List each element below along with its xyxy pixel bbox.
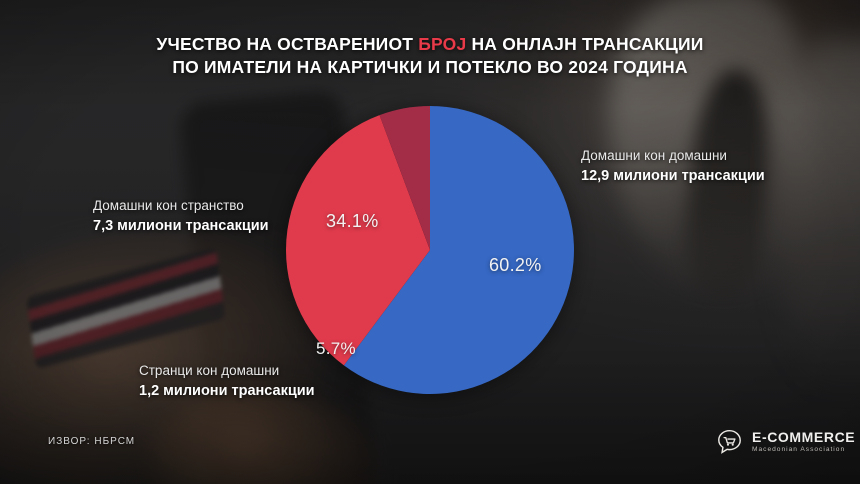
title-highlight-word: БРОЈ [418, 34, 466, 54]
callout-right-name: Домашни кон домашни [581, 146, 765, 166]
ecommerce-association-logo: E-COMMERCE Macedonian Association [716, 428, 855, 455]
callout-domestic-domestic: Домашни кон домашни 12,9 милиони трансак… [581, 146, 765, 187]
pie-slice-value-domestic-abroad: 34.1% [326, 211, 379, 232]
logo-wordmark: E-COMMERCE Macedonian Association [752, 430, 855, 454]
callout-right-value: 12,9 милиони трансакции [581, 166, 765, 187]
pie-slice-value-foreign-domestic: 5.7% [316, 339, 356, 359]
title-line-1: УЧЕСТВО НА ОСТВАРЕНИОТ БРОЈ НА ОНЛАЈН ТР… [0, 33, 860, 56]
callout-foreign-domestic: Странци кон домашни 1,2 милиони трансакц… [139, 361, 315, 402]
title-line-1-after: НА ОНЛАЈН ТРАНСАКЦИИ [466, 34, 703, 54]
callout-left-value: 7,3 милиони трансакции [93, 216, 269, 237]
source-note: ИЗВОР: НБРСМ [48, 436, 135, 447]
pie-slice-value-domestic-domestic: 60.2% [489, 255, 542, 276]
callout-bottom-name: Странци кон домашни [139, 361, 315, 381]
logo-subtitle: Macedonian Association [752, 447, 855, 454]
callout-left-name: Домашни кон странство [93, 196, 269, 216]
callout-domestic-abroad: Домашни кон странство 7,3 милиони транса… [93, 196, 269, 237]
callout-bottom-value: 1,2 милиони трансакции [139, 381, 315, 402]
logo-brand: E-COMMERCE [752, 430, 855, 444]
chat-cart-icon [716, 428, 743, 455]
infographic-slide: УЧЕСТВО НА ОСТВАРЕНИОТ БРОЈ НА ОНЛАЈН ТР… [0, 0, 860, 484]
title-line-1-before: УЧЕСТВО НА ОСТВАРЕНИОТ [156, 34, 418, 54]
page-title: УЧЕСТВО НА ОСТВАРЕНИОТ БРОЈ НА ОНЛАЈН ТР… [0, 33, 860, 79]
title-line-2: ПО ИМАТЕЛИ НА КАРТИЧКИ И ПОТЕКЛО ВО 2024… [0, 56, 860, 79]
